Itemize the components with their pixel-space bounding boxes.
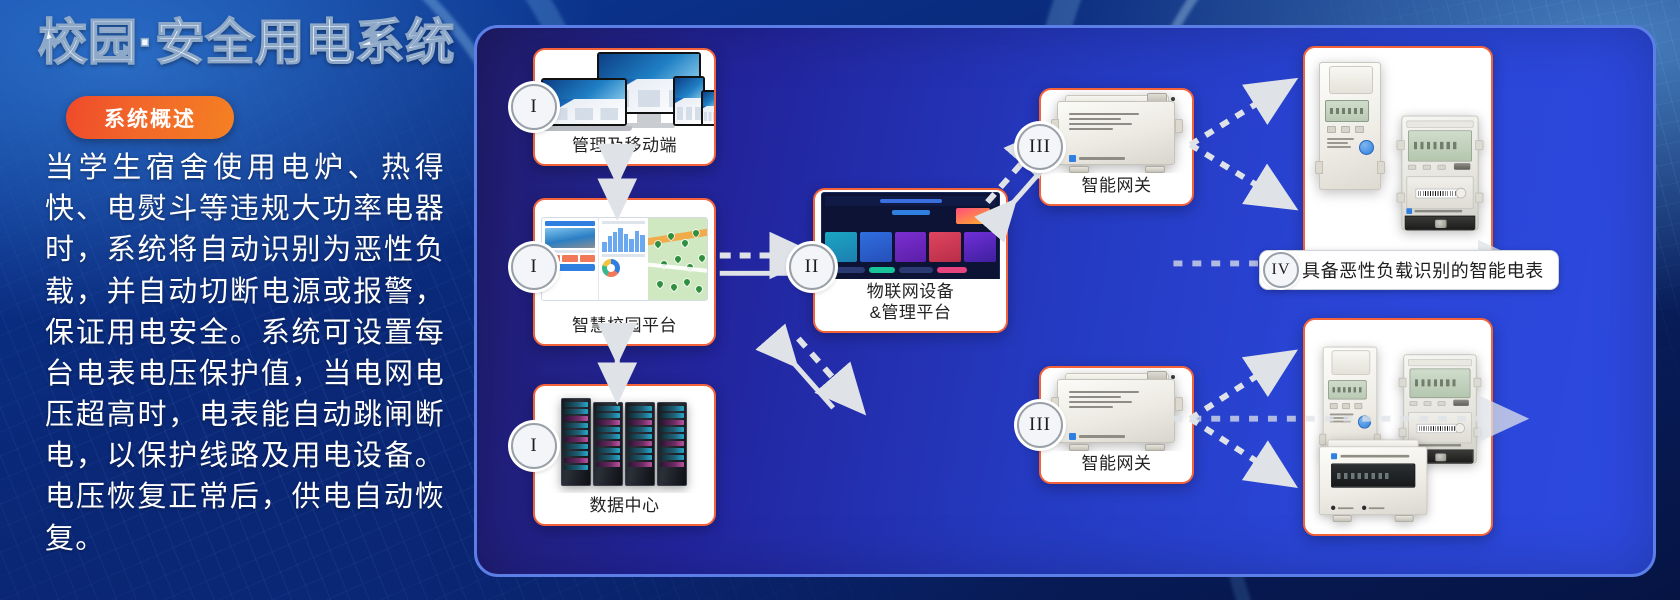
numeral-badge-data-center: I [511,423,557,469]
page-title: 校园·安全用电系统 [38,16,455,71]
diagram-panel: 管理及移动端 I [474,25,1656,577]
meter-group-label[interactable]: 具备恶性负载识别的智能电表 [1259,250,1559,290]
numeral-badge-gateway-bottom: III [1017,402,1063,448]
numeral-badge-meter-group: IV [1263,252,1299,288]
numeral-badge-admin-mobile: I [511,84,557,130]
slide-canvas: 校园·安全用电系统 系统概述 当学生宿舍使用电炉、热得快、电熨斗等违规大功率电器… [0,0,1680,600]
numeral-badge-gateway-top: III [1017,124,1063,170]
overview-body-text: 当学生宿舍使用电炉、热得快、电熨斗等违规大功率电器时，系统将自动识别为恶性负载，… [45,148,445,560]
connector-iot-gateway-bottom [783,339,848,408]
overview-badge: 系统概述 [66,96,234,139]
diagram-inner: 管理及移动端 I [477,28,1653,574]
connector-campus-iot [720,256,798,274]
numeral-badge-campus-platform: I [511,244,557,290]
connector-gateway-top-meters [1190,92,1275,196]
meter-group-label-text: 具备恶性负载识别的智能电表 [1302,257,1544,283]
numeral-badge-iot-platform: II [789,244,835,290]
connector-layer [477,28,1653,574]
left-text-column: 校园·安全用电系统 系统概述 当学生宿舍使用电炉、热得快、电熨斗等违规大功率电器… [0,0,470,600]
